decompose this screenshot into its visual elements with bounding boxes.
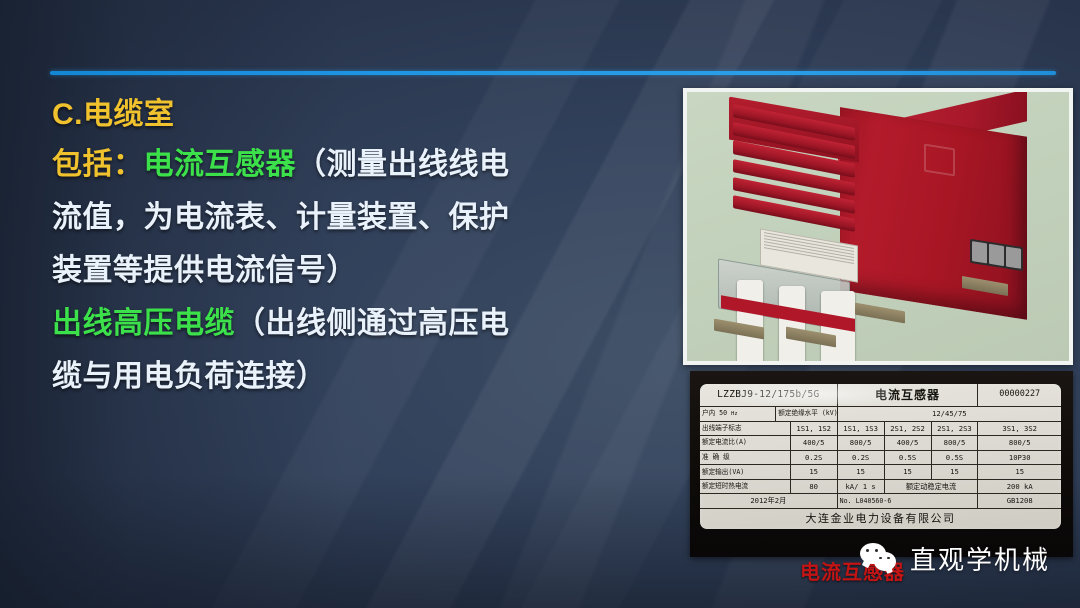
body-line-4-seg-1: 出线高压电缆 <box>52 307 235 340</box>
body-line-4-seg-2: （出线侧通过高压电 <box>235 307 510 340</box>
current-transformer-photo-frame <box>683 88 1073 365</box>
row-cell: 0.2S <box>837 450 884 465</box>
frequency-value: 50 <box>719 409 727 417</box>
ct-terminal-post <box>737 280 764 361</box>
nameplate-insulation-row: 户内 50 Hz 额定绝缘水平 (kV) 12/45/75 <box>700 406 1061 421</box>
nameplate-serial: 00000227 <box>978 384 1061 406</box>
row-cell: 400/5 <box>884 436 931 451</box>
row-cell: 2S1, 2S2 <box>884 421 931 436</box>
row-cell: 2S1, 2S3 <box>931 421 978 436</box>
row-cell: 1S1, 1S2 <box>790 421 837 436</box>
nameplate-model: LZZBJ9-12/175b/5G <box>700 384 837 406</box>
row-cell: 400/5 <box>790 436 837 451</box>
nameplate-indoor-label: 户内 50 Hz <box>700 406 776 421</box>
body-line-2-seg-1: 流值，为电流表、计量装置、保护 <box>52 201 510 234</box>
body-line-5-seg-1: 缆与用电负荷连接） <box>52 360 327 393</box>
dynamic-value: 200 kA <box>978 479 1061 494</box>
nameplate-header-row: LZZBJ9-12/175b/5G 电流互感器 00000227 <box>700 384 1061 406</box>
watermark: 直观学机械 <box>860 540 1050 577</box>
body-line-3: 装置等提供电流信号） <box>52 256 637 286</box>
row-cell: 15 <box>884 465 931 480</box>
serial-number-cell: No. L040560-6 <box>837 494 978 509</box>
row-cell: 15 <box>837 465 884 480</box>
body-line-5: 缆与用电负荷连接） <box>52 362 637 392</box>
nameplate-row: 准 确 级 0.2S 0.2S 0.5S 0.5S 10P30 <box>700 450 1061 465</box>
body-line-3-seg-1: 装置等提供电流信号） <box>52 254 357 287</box>
row-cell: 800/5 <box>931 436 978 451</box>
watermark-text: 直观学机械 <box>910 540 1050 577</box>
body-line-2: 流值，为电流表、计量装置、保护 <box>52 203 637 233</box>
nameplate-thermal-row: 额定短时热电流 80 kA/ 1 s 额定动稳定电流 200 kA <box>700 479 1061 494</box>
serial-number-value: L040560-6 <box>856 497 892 505</box>
slide-canvas: C.电缆室 包括：电流互感器（测量出线线电 流值，为电流表、计量装置、保护 装置… <box>0 0 1080 608</box>
row-cell: 800/5 <box>978 436 1061 451</box>
thermal-label: 额定短时热电流 <box>700 479 790 494</box>
row-cell: 0.5S <box>884 450 931 465</box>
wechat-icon <box>860 543 904 575</box>
row-cell: 10P30 <box>978 450 1061 465</box>
nameplate-insulation-label: 额定绝缘水平 (kV) <box>776 406 837 421</box>
row-cell: 15 <box>978 465 1061 480</box>
current-transformer-photo <box>687 92 1069 361</box>
frequency-unit: Hz <box>731 411 738 417</box>
row-cell: 15 <box>931 465 978 480</box>
nameplate-row: 额定电流比(A) 400/5 800/5 400/5 800/5 800/5 <box>700 436 1061 451</box>
nameplate-row: 出线端子标志 1S1, 1S2 1S1, 1S3 2S1, 2S2 2S1, 2… <box>700 421 1061 436</box>
ct-terminal-post <box>779 286 806 361</box>
nameplate-label: LZZBJ9-12/175b/5G 电流互感器 00000227 户内 50 H… <box>700 384 1061 529</box>
nameplate-insulation-value: 12/45/75 <box>837 406 1061 421</box>
body-line-1: 包括：电流互感器（测量出线线电 <box>52 150 637 180</box>
serial-number-label: No. <box>840 497 852 505</box>
body-line-1-seg-2: 电流互感器 <box>144 148 297 181</box>
standard-code: GB1208 <box>978 494 1061 509</box>
nameplate-manufacturer-row: 大连金业电力设备有限公司 <box>700 508 1061 529</box>
manufacturer-name: 大连金业电力设备有限公司 <box>700 508 1061 529</box>
row-cell: 800/5 <box>837 436 884 451</box>
body-line-4: 出线高压电缆（出线侧通过高压电 <box>52 309 637 339</box>
row-label: 出线端子标志 <box>700 421 790 436</box>
content-text-block: C.电缆室 包括：电流互感器（测量出线线电 流值，为电流表、计量装置、保护 装置… <box>52 100 637 415</box>
row-label: 额定输出(VA) <box>700 465 790 480</box>
row-label: 准 确 级 <box>700 450 790 465</box>
accent-divider-line <box>50 71 1056 75</box>
thermal-value: 80 <box>790 479 837 494</box>
nameplate-photo: LZZBJ9-12/175b/5G 电流互感器 00000227 户内 50 H… <box>690 371 1073 557</box>
ct-embossed-mark <box>924 143 955 176</box>
body-line-1-seg-1: 包括： <box>52 148 144 181</box>
row-cell: 15 <box>790 465 837 480</box>
thermal-unit: kA/ 1 s <box>837 479 884 494</box>
nameplate-table: LZZBJ9-12/175b/5G 电流互感器 00000227 户内 50 H… <box>700 384 1061 529</box>
nameplate-row: 额定输出(VA) 15 15 15 15 15 <box>700 465 1061 480</box>
row-cell: 0.2S <box>790 450 837 465</box>
row-cell: 3S1, 3S2 <box>978 421 1061 436</box>
dynamic-label: 额定动稳定电流 <box>884 479 978 494</box>
manufacture-date: 2012年2月 <box>700 494 837 509</box>
row-cell: 1S1, 1S3 <box>837 421 884 436</box>
ct-mounting-foot <box>855 303 905 324</box>
nameplate-date-row: 2012年2月 No. L040560-6 GB1208 <box>700 494 1061 509</box>
body-line-1-seg-3: （测量出线线电 <box>296 148 510 181</box>
indoor-text: 户内 <box>702 409 715 417</box>
row-label: 额定电流比(A) <box>700 436 790 451</box>
row-cell: 0.5S <box>931 450 978 465</box>
page-title: C.电缆室 <box>52 100 637 130</box>
nameplate-title: 电流互感器 <box>837 384 978 406</box>
